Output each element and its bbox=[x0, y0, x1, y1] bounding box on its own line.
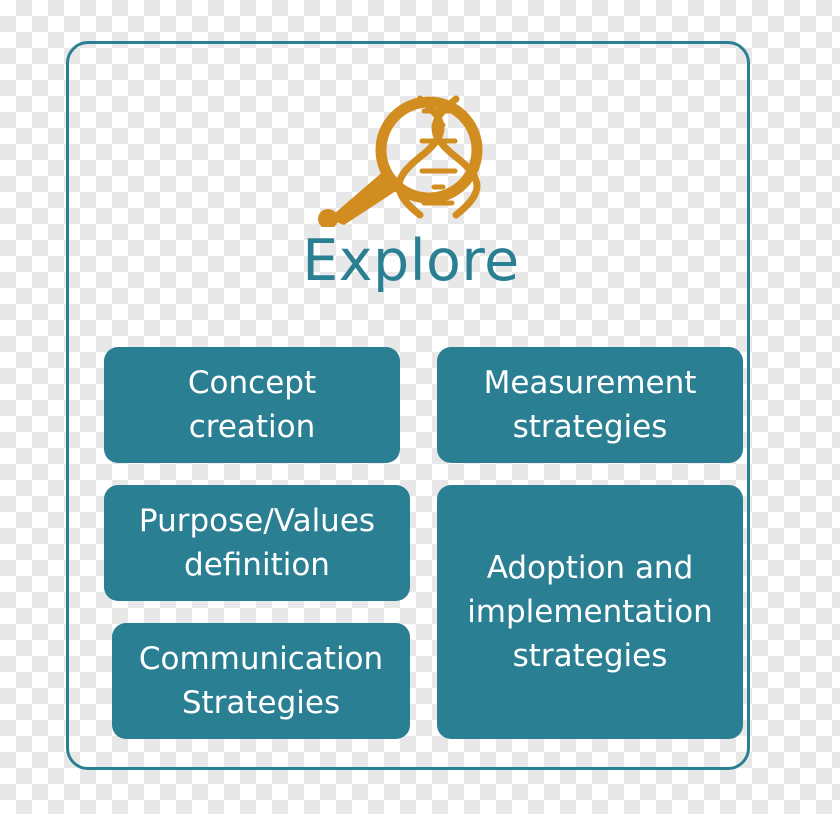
chip-line: strategies bbox=[484, 405, 697, 449]
chip-line: strategies bbox=[467, 634, 713, 678]
chip-line: creation bbox=[188, 405, 316, 449]
explore-card: Explore Concept creation Measurement str… bbox=[66, 41, 750, 770]
chip-line: Purpose/Values bbox=[139, 499, 375, 543]
chip-line: definition bbox=[139, 543, 375, 587]
topic-chip-grid: Concept creation Measurement strategies … bbox=[104, 347, 718, 757]
magnifier-dna-icon bbox=[69, 91, 753, 231]
chip-line: Strategies bbox=[139, 681, 383, 725]
chip-purpose-values-definition[interactable]: Purpose/Values definition bbox=[104, 485, 410, 601]
chip-line: Concept bbox=[188, 361, 316, 405]
chip-line: Measurement bbox=[484, 361, 697, 405]
chip-line: Communication bbox=[139, 637, 383, 681]
chip-communication-strategies[interactable]: Communication Strategies bbox=[112, 623, 410, 739]
chip-concept-creation[interactable]: Concept creation bbox=[104, 347, 400, 463]
page-title: Explore bbox=[69, 230, 753, 293]
chip-line: implementation bbox=[467, 590, 713, 634]
chip-adoption-implementation-strategies[interactable]: Adoption and implementation strategies bbox=[437, 485, 743, 739]
chip-line: Adoption and bbox=[467, 546, 713, 590]
chip-measurement-strategies[interactable]: Measurement strategies bbox=[437, 347, 743, 463]
